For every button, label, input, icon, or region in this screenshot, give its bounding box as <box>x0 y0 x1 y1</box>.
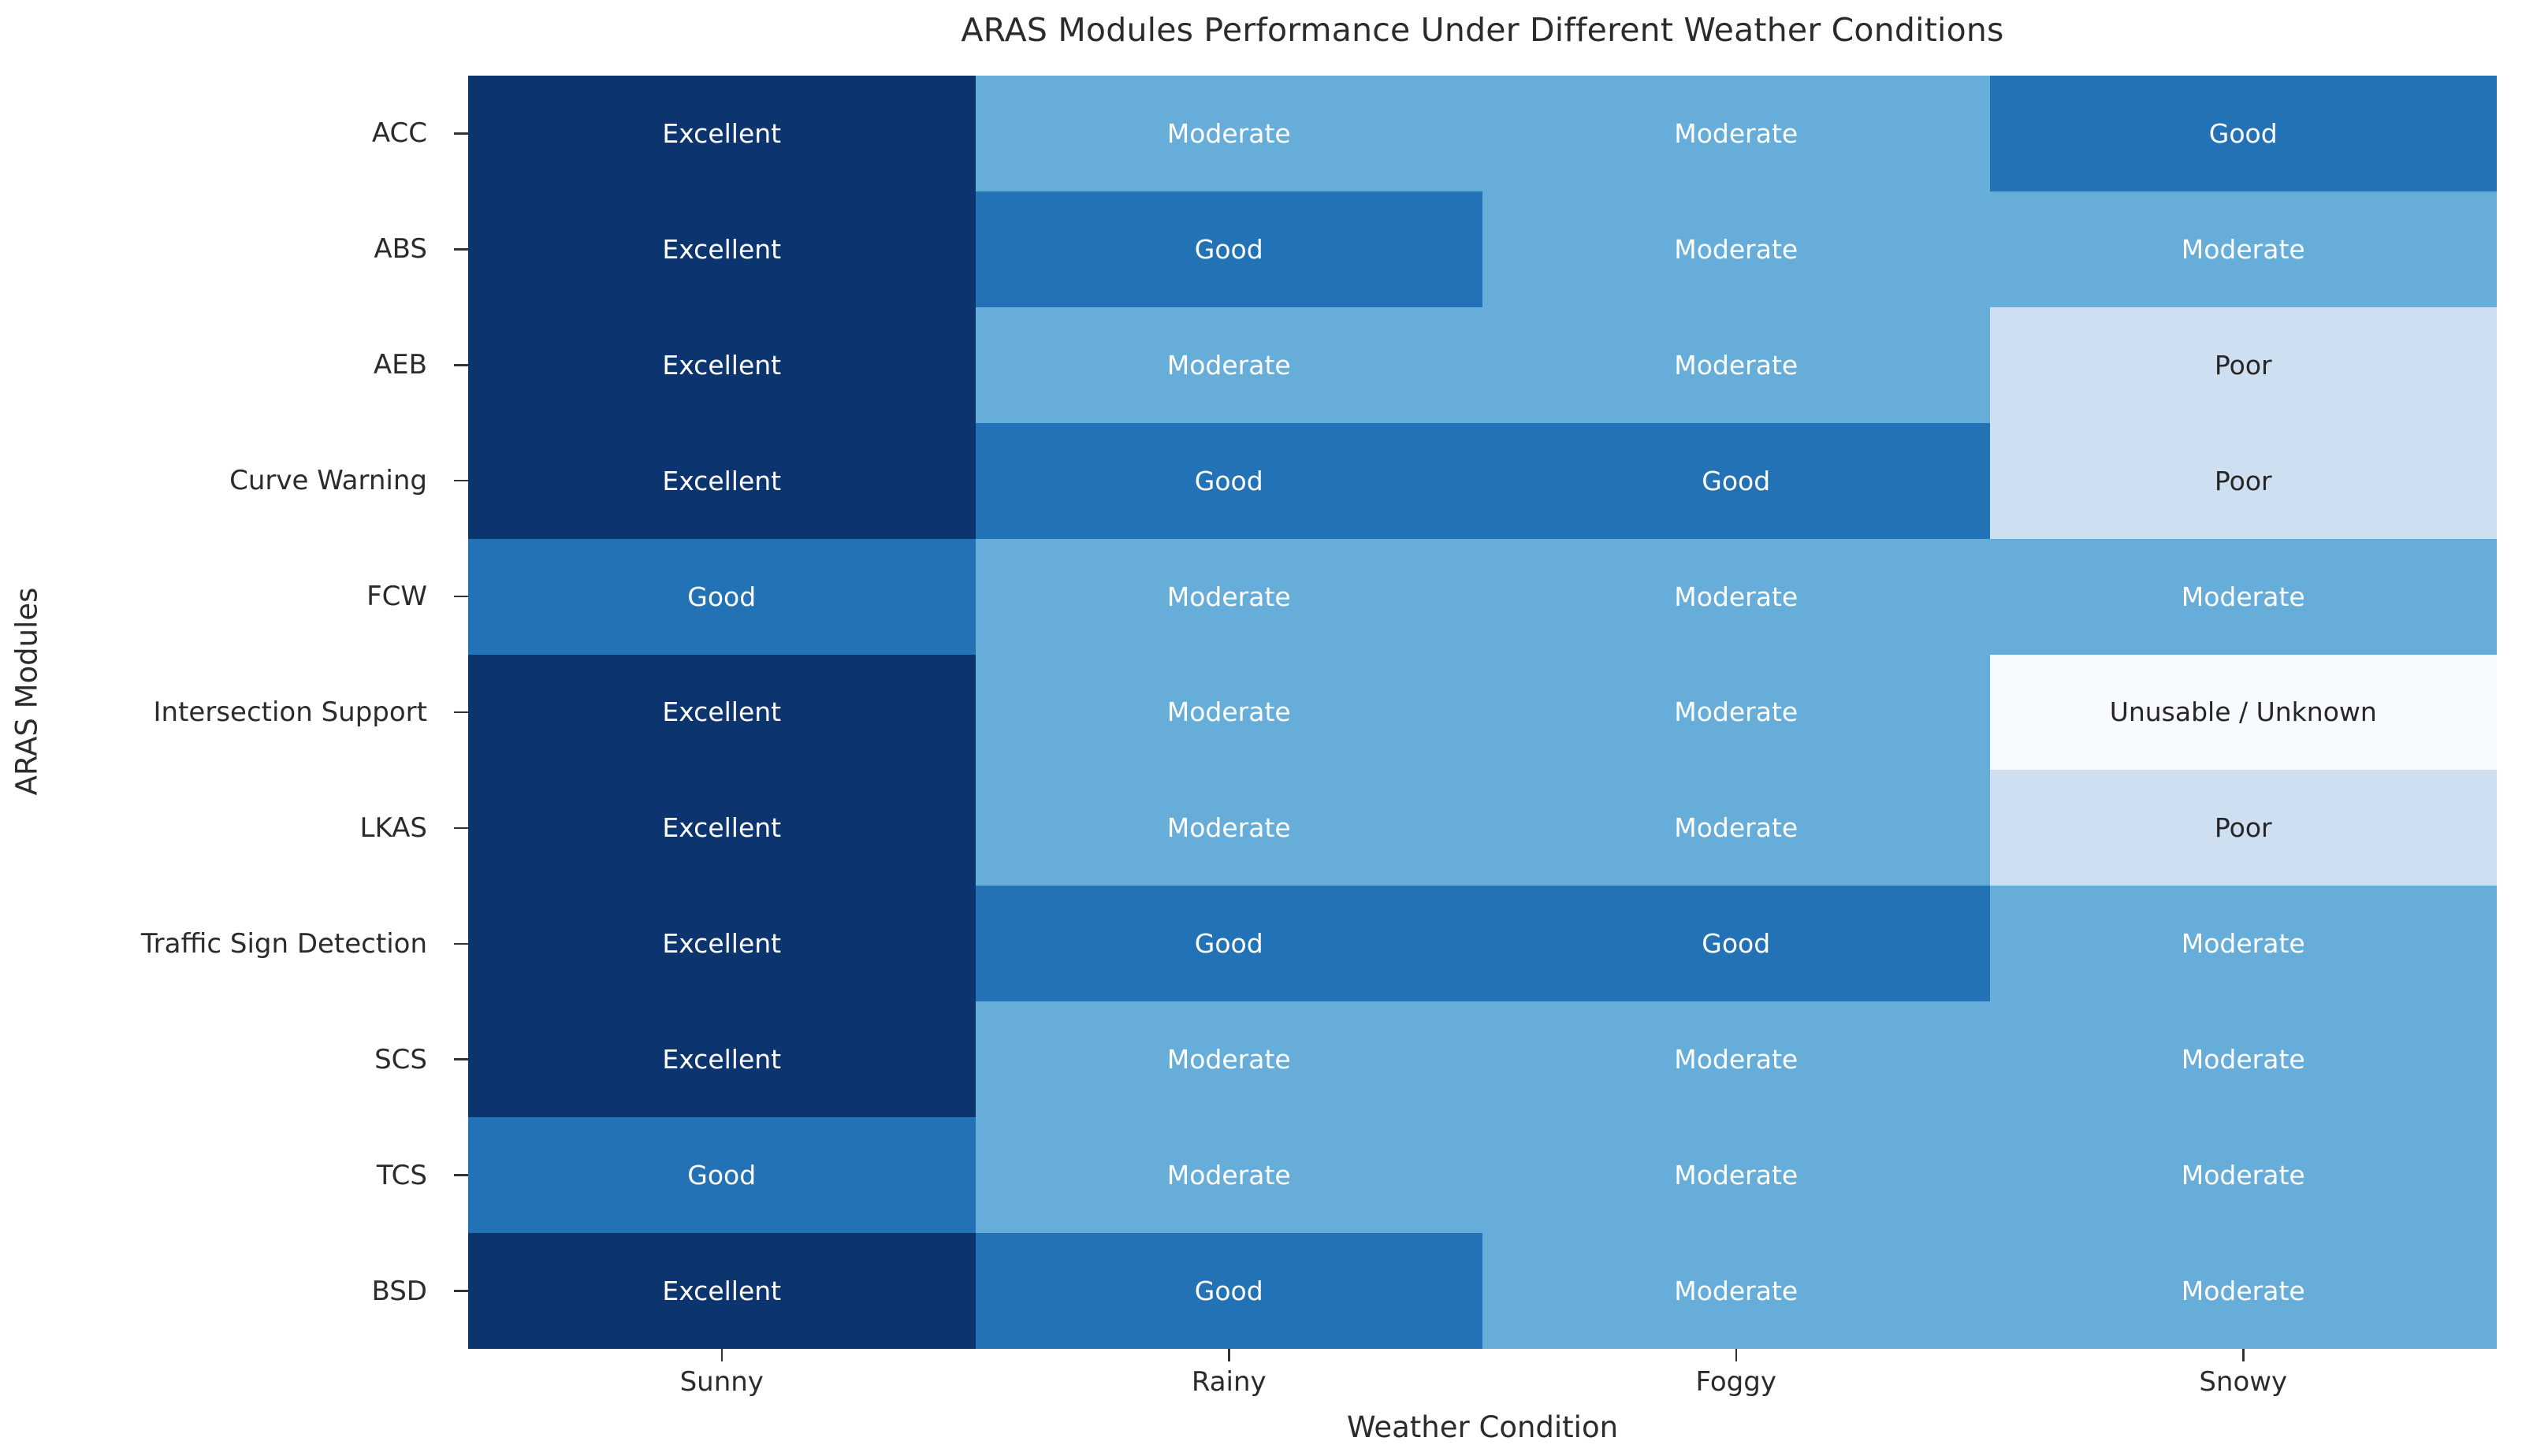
heatmap-cell: Poor <box>1990 423 2498 539</box>
y-tick-mark <box>454 1001 468 1117</box>
heatmap-cell: Good <box>1482 886 1990 1001</box>
heatmap-cell-label: Good <box>687 584 756 610</box>
heatmap-cell: Moderate <box>1482 1001 1990 1117</box>
heatmap-cell: Poor <box>1990 307 2498 423</box>
heatmap-cell-label: Moderate <box>1167 352 1291 378</box>
heatmap-cell: Moderate <box>1482 191 1990 307</box>
y-tick-label: LKAS <box>0 770 445 886</box>
x-tick-mark <box>1990 1349 2498 1361</box>
heatmap-cell-label: Good <box>1195 468 1263 494</box>
heatmap-cell-label: Moderate <box>1167 815 1291 841</box>
heatmap-cell-label: Excellent <box>662 699 781 725</box>
heatmap-cell-label: Excellent <box>662 815 781 841</box>
heatmap-cell: Moderate <box>976 1001 1483 1117</box>
heatmap-cell-label: Poor <box>2215 352 2272 378</box>
heatmap-cell-label: Moderate <box>2182 1162 2305 1188</box>
heatmap-cell-label: Moderate <box>1167 699 1291 725</box>
heatmap-cell: Excellent <box>468 1001 976 1117</box>
x-tick-mark <box>976 1349 1483 1361</box>
y-tick-label: Traffic Sign Detection <box>0 886 445 1001</box>
heatmap-cell-label: Moderate <box>1674 352 1798 378</box>
y-axis-tick-labels: ACCABSAEBCurve WarningFCWIntersection Su… <box>0 76 445 1349</box>
heatmap-cell: Moderate <box>1990 1117 2498 1233</box>
heatmap-cell: Good <box>468 1117 976 1233</box>
heatmap-cell: Excellent <box>468 423 976 539</box>
y-tick-mark <box>454 886 468 1001</box>
heatmap-cell: Moderate <box>1482 1117 1990 1233</box>
y-tick-mark <box>454 1117 468 1233</box>
x-tick-label: Foggy <box>1482 1366 1990 1398</box>
heatmap-cell: Excellent <box>468 76 976 191</box>
heatmap-cell: Moderate <box>976 1117 1483 1233</box>
heatmap-cell-label: Moderate <box>1674 815 1798 841</box>
heatmap-cell-label: Moderate <box>1674 121 1798 147</box>
y-tick-mark <box>454 423 468 539</box>
heatmap-cell: Moderate <box>1990 886 2498 1001</box>
y-tick-label: Intersection Support <box>0 655 445 771</box>
y-tick-label: Curve Warning <box>0 423 445 539</box>
heatmap-cell-label: Good <box>1195 930 1263 956</box>
heatmap-cell: Poor <box>1990 770 2498 886</box>
heatmap-cell-label: Moderate <box>1674 1278 1798 1304</box>
y-axis-tick-marks <box>454 76 468 1349</box>
heatmap-cell: Excellent <box>468 1233 976 1349</box>
y-tick-mark <box>454 655 468 771</box>
heatmap-cell: Moderate <box>976 76 1483 191</box>
heatmap-cell-label: Moderate <box>1167 1046 1291 1072</box>
heatmap-cell-label: Moderate <box>2182 1278 2305 1304</box>
heatmap-cell-label: Good <box>1195 1278 1263 1304</box>
heatmap-cell: Excellent <box>468 307 976 423</box>
y-tick-mark <box>454 191 468 307</box>
heatmap-cell-label: Unusable / Unknown <box>2110 699 2377 725</box>
heatmap-cell-label: Good <box>2209 121 2278 147</box>
y-tick-mark <box>454 539 468 655</box>
heatmap-cell: Moderate <box>1482 770 1990 886</box>
heatmap-cell: Unusable / Unknown <box>1990 655 2498 771</box>
heatmap-cell-label: Excellent <box>662 1046 781 1072</box>
heatmap-cell: Moderate <box>1482 307 1990 423</box>
y-tick-label: AEB <box>0 307 445 423</box>
heatmap-cell-label: Moderate <box>2182 584 2305 610</box>
heatmap-grid: ExcellentModerateModerateGoodExcellentGo… <box>468 76 2497 1349</box>
heatmap-cell-label: Excellent <box>662 352 781 378</box>
y-tick-label: FCW <box>0 539 445 655</box>
heatmap-cell: Good <box>1482 423 1990 539</box>
x-axis-tick-marks <box>468 1349 2497 1361</box>
x-tick-label: Snowy <box>1990 1366 2498 1398</box>
y-tick-mark <box>454 1233 468 1349</box>
heatmap-cell-label: Moderate <box>1167 121 1291 147</box>
y-tick-mark <box>454 770 468 886</box>
heatmap-cell: Moderate <box>1482 76 1990 191</box>
heatmap-cell-label: Excellent <box>662 236 781 262</box>
heatmap-cell: Moderate <box>1990 1233 2498 1349</box>
heatmap-cell-label: Poor <box>2215 468 2272 494</box>
heatmap-cell-label: Moderate <box>1674 584 1798 610</box>
y-tick-label: BSD <box>0 1233 445 1349</box>
x-axis-tick-labels: SunnyRainyFoggySnowy <box>468 1366 2497 1398</box>
x-tick-mark <box>468 1349 976 1361</box>
heatmap-cell: Moderate <box>1482 539 1990 655</box>
y-tick-label: TCS <box>0 1117 445 1233</box>
heatmap-cell: Moderate <box>1482 1233 1990 1349</box>
heatmap-cell-label: Moderate <box>2182 930 2305 956</box>
heatmap-cell-label: Moderate <box>1167 584 1291 610</box>
heatmap-cell: Moderate <box>1990 1001 2498 1117</box>
heatmap-cell-label: Good <box>1702 930 1770 956</box>
x-tick-mark <box>1482 1349 1990 1361</box>
heatmap-cell: Good <box>976 1233 1483 1349</box>
heatmap-cell-label: Excellent <box>662 468 781 494</box>
heatmap-cell: Moderate <box>1990 539 2498 655</box>
heatmap-cell-label: Excellent <box>662 121 781 147</box>
heatmap-cell: Good <box>1990 76 2498 191</box>
x-tick-label: Rainy <box>976 1366 1483 1398</box>
heatmap-cell-label: Good <box>1195 236 1263 262</box>
heatmap-cell: Excellent <box>468 886 976 1001</box>
heatmap-cell-label: Excellent <box>662 930 781 956</box>
heatmap-cell-label: Good <box>687 1162 756 1188</box>
heatmap-cell: Moderate <box>976 307 1483 423</box>
heatmap-cell-label: Moderate <box>1167 1162 1291 1188</box>
heatmap-cell: Moderate <box>976 655 1483 771</box>
heatmap-cell-label: Moderate <box>1674 1046 1798 1072</box>
plot-area: ExcellentModerateModerateGoodExcellentGo… <box>468 76 2497 1349</box>
chart-title: ARAS Modules Performance Under Different… <box>468 11 2497 49</box>
heatmap-cell-label: Moderate <box>1674 236 1798 262</box>
heatmap-cell: Good <box>976 191 1483 307</box>
y-tick-mark <box>454 307 468 423</box>
heatmap-cell-label: Good <box>1702 468 1770 494</box>
x-axis-title: Weather Condition <box>468 1410 2497 1444</box>
y-tick-label: ACC <box>0 76 445 191</box>
heatmap-cell-label: Poor <box>2215 815 2272 841</box>
heatmap-cell-label: Moderate <box>1674 1162 1798 1188</box>
heatmap-cell: Excellent <box>468 191 976 307</box>
heatmap-cell: Moderate <box>1990 191 2498 307</box>
y-tick-label: SCS <box>0 1001 445 1117</box>
heatmap-cell: Excellent <box>468 655 976 771</box>
heatmap-cell: Good <box>976 423 1483 539</box>
heatmap-cell: Good <box>976 886 1483 1001</box>
heatmap-cell: Moderate <box>1482 655 1990 771</box>
heatmap-cell-label: Excellent <box>662 1278 781 1304</box>
y-tick-mark <box>454 76 468 191</box>
heatmap-cell-label: Moderate <box>2182 236 2305 262</box>
heatmap-cell: Moderate <box>976 770 1483 886</box>
heatmap-cell: Excellent <box>468 770 976 886</box>
y-tick-label: ABS <box>0 191 445 307</box>
heatmap-figure: ARAS Modules Performance Under Different… <box>0 0 2522 1456</box>
heatmap-cell-label: Moderate <box>2182 1046 2305 1072</box>
heatmap-cell: Moderate <box>976 539 1483 655</box>
x-tick-label: Sunny <box>468 1366 976 1398</box>
heatmap-cell-label: Moderate <box>1674 699 1798 725</box>
heatmap-cell: Good <box>468 539 976 655</box>
